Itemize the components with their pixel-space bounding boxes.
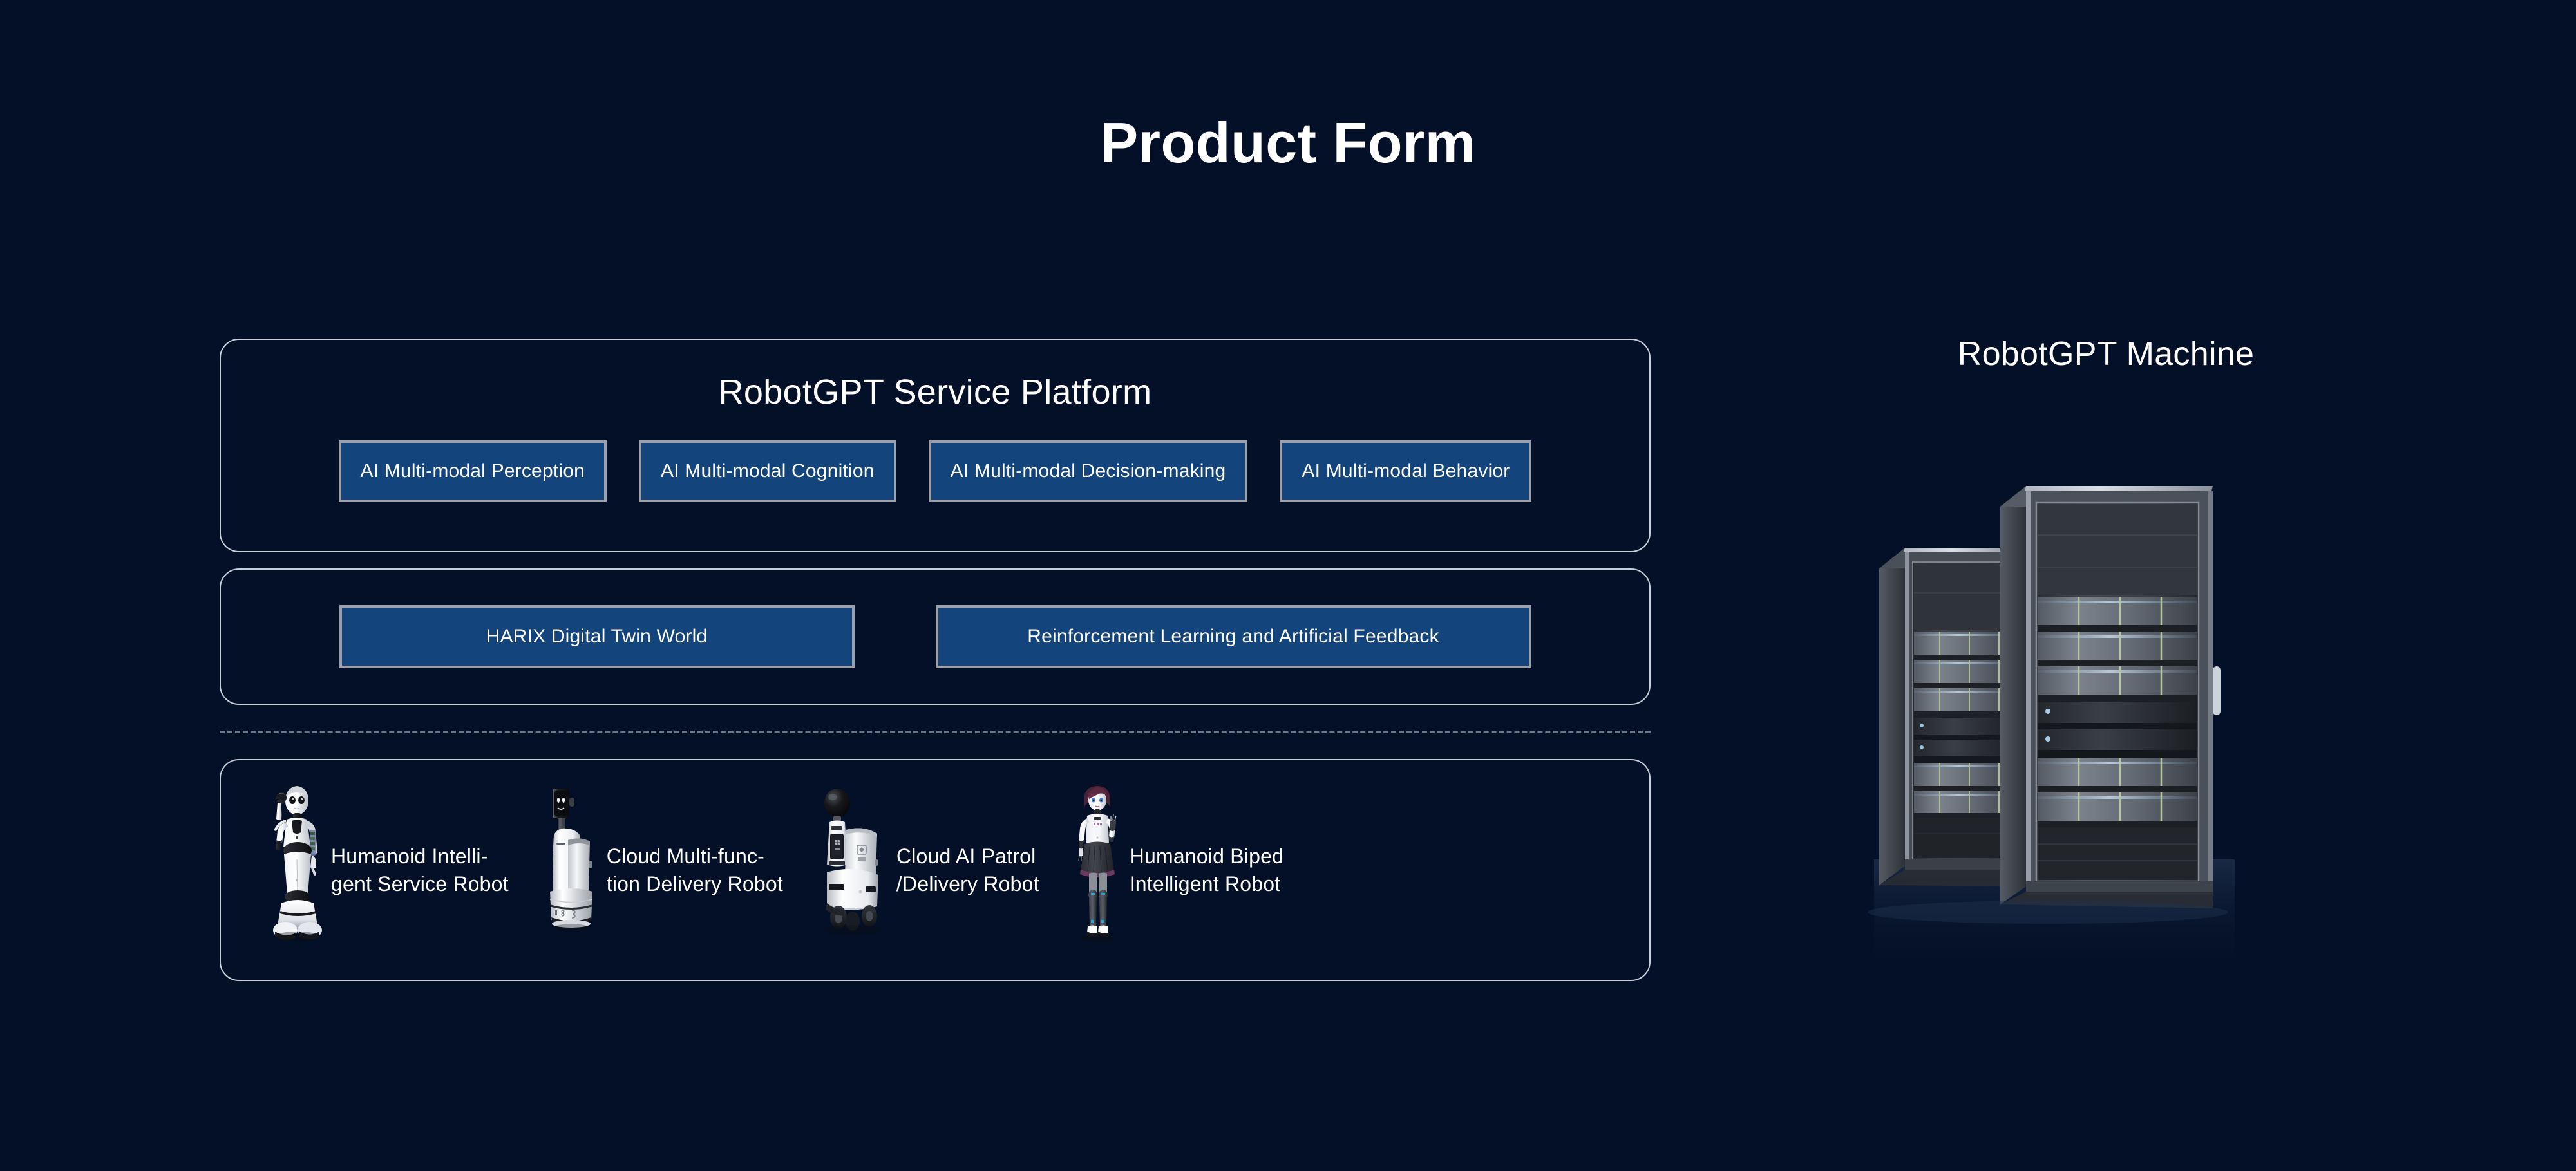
world-chip-reinforcement-learning[interactable]: Reinforcement Learning and Artificial Fe… bbox=[936, 605, 1531, 668]
robot-item-delivery[interactable]: Cloud Multi-func- tion Delivery Robot bbox=[540, 760, 783, 980]
world-chip-label: Reinforcement Learning and Artificial Fe… bbox=[1027, 626, 1439, 648]
server-rack-large bbox=[2000, 486, 2221, 908]
humanoid-service-robot-icon bbox=[261, 783, 328, 957]
biped-humanoid-robot-icon bbox=[1068, 783, 1127, 957]
capability-chip-cognition[interactable]: AI Multi-modal Cognition bbox=[639, 440, 896, 502]
capability-chip-perception[interactable]: AI Multi-modal Perception bbox=[339, 440, 607, 502]
robot-item-label: Cloud Multi-func- tion Delivery Robot bbox=[607, 843, 783, 897]
capability-chip-decision-making[interactable]: AI Multi-modal Decision-making bbox=[929, 440, 1248, 502]
platform-diagram: RobotGPT Service Platform AI Multi-modal… bbox=[220, 339, 1651, 981]
world-chip-label: HARIX Digital Twin World bbox=[486, 626, 708, 648]
world-chip-harix-digital-twin[interactable]: HARIX Digital Twin World bbox=[339, 605, 855, 668]
robot-item-label: Humanoid Biped Intelligent Robot bbox=[1130, 843, 1283, 897]
capability-chip-behavior[interactable]: AI Multi-modal Behavior bbox=[1280, 440, 1531, 502]
page-title: Product Form bbox=[0, 115, 2576, 171]
capability-chip-label: AI Multi-modal Cognition bbox=[661, 460, 875, 482]
capability-chip-label: AI Multi-modal Perception bbox=[361, 460, 585, 482]
robot-item-label: Cloud AI Patrol /Delivery Robot bbox=[896, 843, 1039, 897]
world-layer-panel: HARIX Digital Twin World Reinforcement L… bbox=[220, 568, 1651, 705]
robot-products-panel: Humanoid Intelli- gent Service Robot bbox=[220, 759, 1651, 981]
capability-panel: RobotGPT Service Platform AI Multi-modal… bbox=[220, 339, 1651, 552]
capability-chip-label: AI Multi-modal Decision-making bbox=[951, 460, 1226, 482]
machine-title: RobotGPT Machine bbox=[1855, 335, 2357, 373]
patrol-robot-icon bbox=[810, 783, 894, 957]
section-divider bbox=[220, 731, 1651, 733]
capability-chip-label: AI Multi-modal Behavior bbox=[1302, 460, 1510, 482]
robot-item-patrol[interactable]: Cloud AI Patrol /Delivery Robot bbox=[810, 760, 1039, 980]
machine-block: RobotGPT Machine bbox=[1855, 335, 2357, 988]
platform-panel-title: RobotGPT Service Platform bbox=[221, 372, 1649, 412]
robot-item-label: Humanoid Intelli- gent Service Robot bbox=[331, 843, 509, 897]
server-rack-icon bbox=[1855, 409, 2357, 988]
capability-chip-row: AI Multi-modal Perception AI Multi-modal… bbox=[221, 440, 1649, 502]
delivery-robot-icon bbox=[540, 783, 604, 957]
robot-item-humanoid-service[interactable]: Humanoid Intelli- gent Service Robot bbox=[261, 760, 509, 980]
robot-item-biped[interactable]: Humanoid Biped Intelligent Robot bbox=[1068, 760, 1283, 980]
